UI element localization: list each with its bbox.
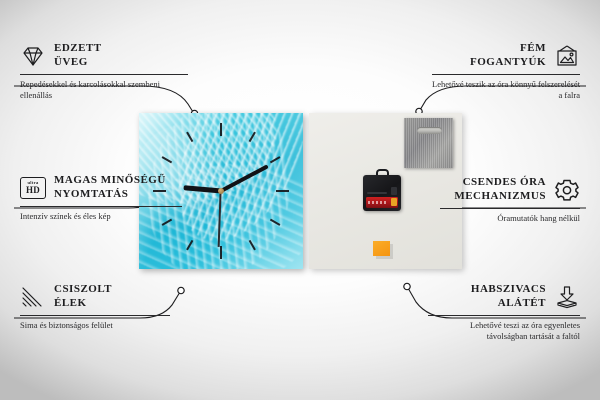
callout-endpoint-foam (404, 283, 410, 289)
diamond-icon (20, 44, 46, 68)
feature-header: FÉM FOGANTYÚK (432, 42, 580, 70)
mechanism-detail (367, 192, 387, 194)
feature-description: Lehetővé teszik az óra könnyű felszerelé… (432, 79, 580, 101)
feature-callout-mechanism: CSENDES ÓRA MECHANIZMUS Óramutatók hang … (440, 176, 580, 224)
feature-callout-edges: CSISZOLT ÉLEK Sima és biztonságos felüle… (20, 283, 170, 331)
feature-callout-glass: EDZETT ÜVEG Repedésekkel és karcolásokka… (20, 42, 188, 101)
feature-header: CSENDES ÓRA MECHANIZMUS (440, 176, 580, 204)
bracket-slot (417, 127, 442, 134)
battery-label-band (368, 201, 388, 204)
feature-header: HABSZIVACS ALÁTÉT (428, 283, 580, 311)
feature-header: ultra HD MAGAS MINŐSÉGŰ NYOMTATÁS (20, 174, 182, 202)
feature-description: Óramutatók hang nélkül (440, 213, 580, 224)
hour-tick (220, 123, 222, 191)
feature-title: CSENDES ÓRA MECHANIZMUS (454, 176, 546, 204)
feature-callout-handles: FÉM FOGANTYÚK Lehetővé teszik az óra kön… (432, 42, 580, 101)
wall-hanger-icon (554, 44, 580, 68)
feature-description: Lehetővé teszi az óra egyenletes távolsá… (428, 320, 580, 342)
feature-callout-foam: HABSZIVACS ALÁTÉT Lehetővé teszi az óra … (428, 283, 580, 342)
battery-positive-terminal (391, 198, 397, 206)
metal-hanger-bracket (404, 118, 453, 168)
clock-center-cap (218, 188, 224, 194)
infographic-canvas: EDZETT ÜVEG Repedésekkel és karcolásokka… (0, 0, 600, 400)
gear-icon (554, 178, 580, 202)
product-image-group (139, 113, 462, 269)
foam-spacer-pad (373, 241, 390, 256)
feature-description: Sima és biztonságos felület (20, 320, 170, 331)
callout-endpoint-edges (178, 287, 184, 293)
feature-description: Intenzív színek és éles kép (20, 211, 182, 222)
feature-callout-print: ultra HD MAGAS MINŐSÉGŰ NYOMTATÁS Intenz… (20, 174, 182, 222)
divider (20, 315, 170, 316)
feature-header: CSISZOLT ÉLEK (20, 283, 170, 311)
feature-title: FÉM FOGANTYÚK (470, 42, 546, 70)
feature-title: EDZETT ÜVEG (54, 42, 102, 70)
feature-header: EDZETT ÜVEG (20, 42, 188, 70)
feature-title: CSISZOLT ÉLEK (54, 283, 112, 311)
mechanism-body (363, 175, 401, 211)
foam-pad-arrow-icon (554, 285, 580, 309)
divider (20, 74, 188, 75)
feature-description: Repedésekkel és karcolásokkal szembeni e… (20, 79, 188, 101)
ultra-hd-badge-icon: ultra HD (20, 177, 46, 199)
divider (20, 206, 182, 207)
feature-title: MAGAS MINŐSÉGŰ NYOMTATÁS (54, 174, 166, 202)
divider (432, 74, 580, 75)
polished-edge-icon (20, 285, 46, 309)
battery (366, 197, 398, 208)
divider (440, 208, 580, 209)
hour-tick (221, 190, 289, 192)
quiet-clock-mechanism (363, 169, 401, 211)
mechanism-detail (391, 187, 397, 195)
feature-title: HABSZIVACS ALÁTÉT (471, 283, 546, 311)
divider (428, 315, 580, 316)
